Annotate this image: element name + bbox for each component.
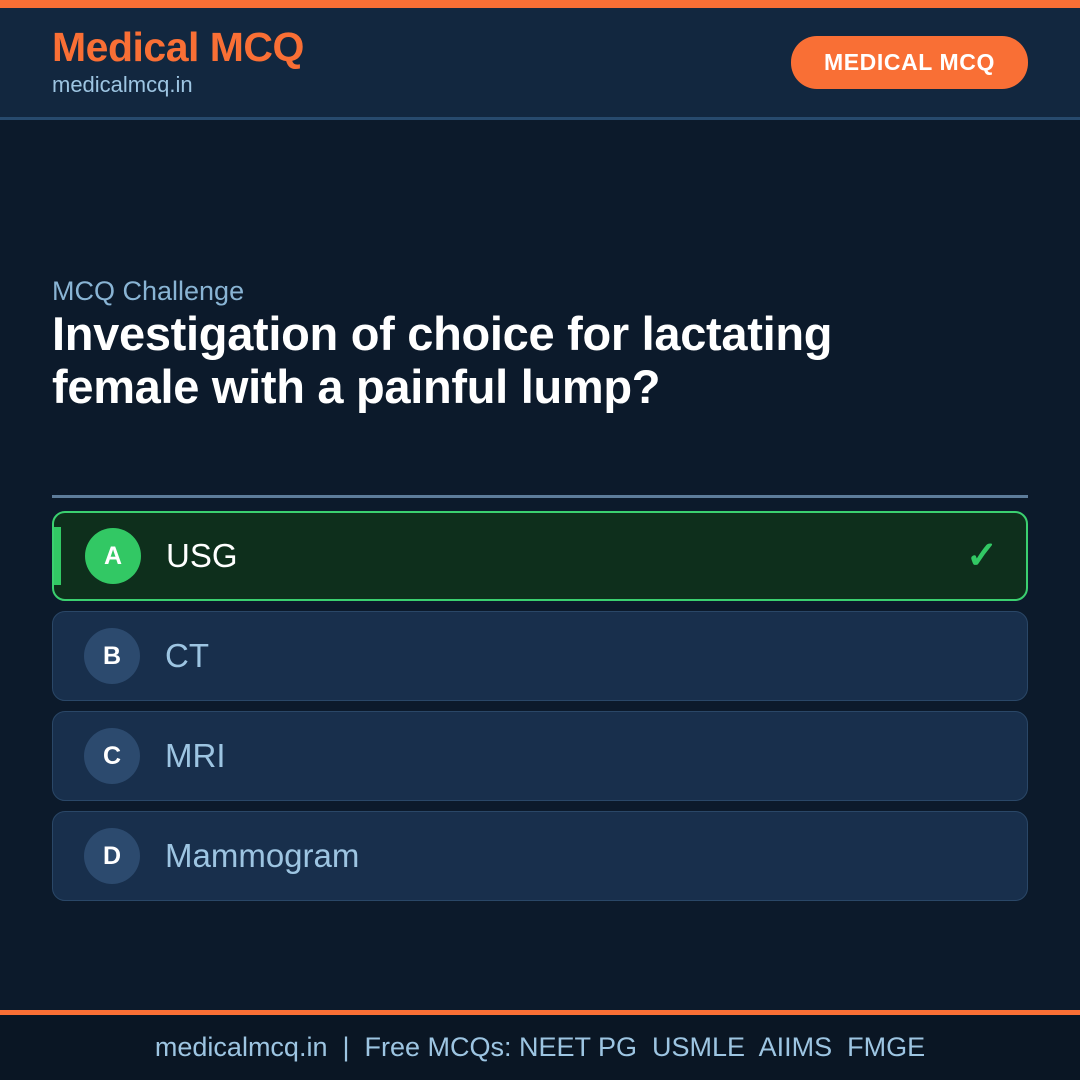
question-text: Investigation of choice for lactating fe…	[52, 308, 952, 413]
top-accent-bar	[0, 0, 1080, 8]
option-b[interactable]: B CT	[52, 611, 1028, 701]
brand-title: Medical MCQ	[52, 26, 304, 69]
option-a[interactable]: A USG ✓	[52, 511, 1028, 601]
footer-text: medicalmcq.in | Free MCQs: NEET PG USMLE…	[155, 1032, 925, 1063]
option-a-label: USG	[166, 537, 966, 575]
page-footer: medicalmcq.in | Free MCQs: NEET PG USMLE…	[0, 1015, 1080, 1080]
correct-accent-bar	[54, 527, 61, 585]
option-d-label: Mammogram	[165, 837, 999, 875]
option-c-label: MRI	[165, 737, 999, 775]
brand-subtitle: medicalmcq.in	[52, 72, 304, 98]
option-d-badge: D	[84, 828, 140, 884]
option-c-badge: C	[84, 728, 140, 784]
header-badge: MEDICAL MCQ	[791, 36, 1028, 89]
option-d[interactable]: D Mammogram	[52, 811, 1028, 901]
main-content: MCQ Challenge Investigation of choice fo…	[0, 120, 1080, 1010]
options-list: A USG ✓ B CT C MRI D Mammogram	[52, 511, 1028, 901]
mcq-challenge-label: MCQ Challenge	[52, 276, 244, 307]
option-b-badge: B	[84, 628, 140, 684]
option-b-label: CT	[165, 637, 999, 675]
page-header: Medical MCQ medicalmcq.in MEDICAL MCQ	[0, 8, 1080, 120]
option-a-badge: A	[85, 528, 141, 584]
brand-block: Medical MCQ medicalmcq.in	[52, 26, 304, 98]
option-c[interactable]: C MRI	[52, 711, 1028, 801]
check-icon: ✓	[966, 537, 998, 575]
question-divider	[52, 495, 1028, 498]
